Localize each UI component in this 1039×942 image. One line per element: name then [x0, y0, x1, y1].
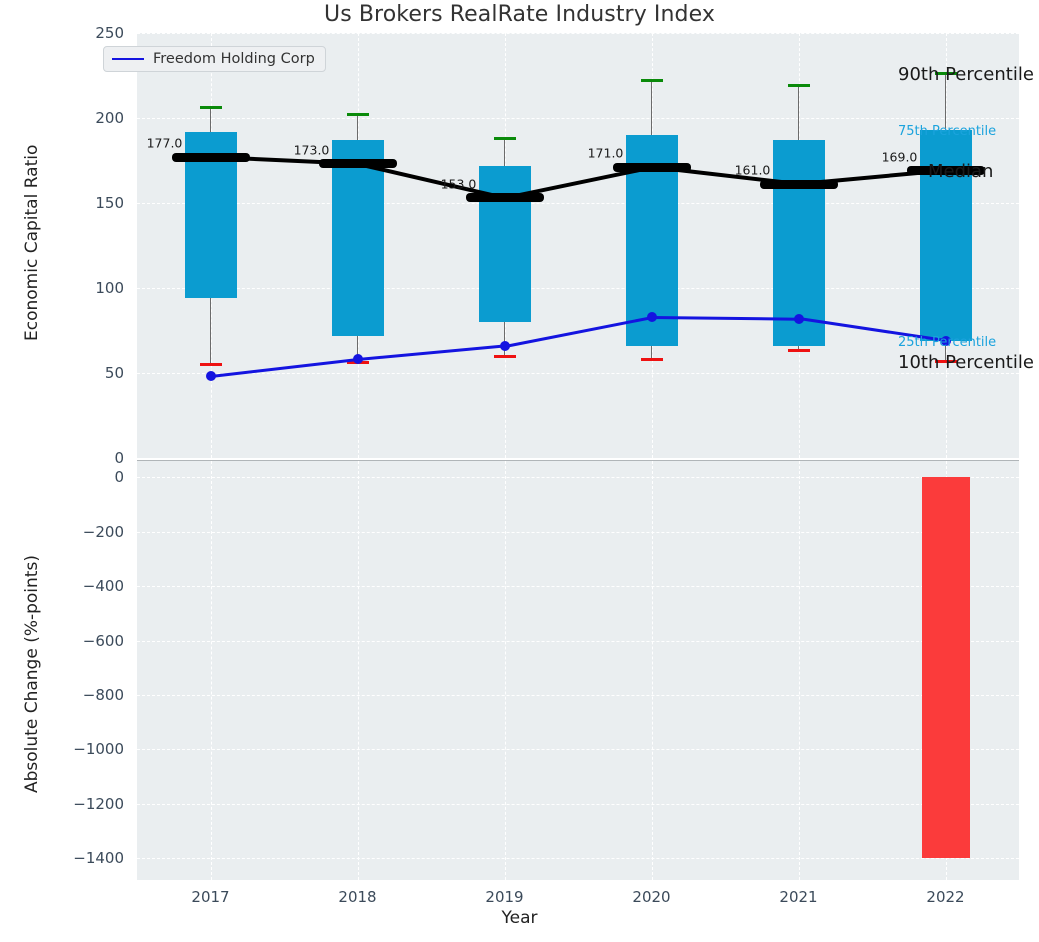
gridline-vertical	[505, 461, 506, 880]
annotation-90th-percentile: 90th Percentile	[898, 64, 1034, 85]
cap-10th-percentile-2017	[200, 363, 222, 366]
y-tick-label-bottom: 0	[0, 468, 124, 486]
gridline-vertical	[799, 461, 800, 880]
y-axis-label-top: Economic Capital Ratio	[22, 144, 42, 340]
annotation-75th-percentile: 75th Percentile	[898, 124, 996, 139]
chart-title: Us Brokers RealRate Industry Index	[0, 2, 1039, 27]
y-tick-label-bottom: −800	[0, 686, 124, 704]
gridline-vertical	[211, 461, 212, 880]
cap-10th-percentile-2021	[788, 349, 810, 352]
gridline-horizontal	[137, 804, 1019, 805]
median-marker-2021	[760, 180, 838, 189]
y-tick-label-bottom: −1000	[0, 740, 124, 758]
gridline-vertical	[358, 461, 359, 880]
gridline-horizontal	[137, 532, 1019, 533]
y-tick-label-bottom: −200	[0, 523, 124, 541]
cap-90th-percentile-2020	[641, 79, 663, 82]
median-value-label-2018: 173.0	[294, 142, 330, 157]
x-tick-label-2022: 2022	[886, 888, 1006, 906]
median-marker-2019	[466, 193, 544, 202]
cap-90th-percentile-2018	[347, 113, 369, 116]
legend-swatch-freedom-holding-corp	[112, 58, 144, 60]
x-tick-label-2020: 2020	[592, 888, 712, 906]
y-tick-label-bottom: −400	[0, 577, 124, 595]
y-tick-label-top: 0	[0, 449, 124, 467]
x-tick-label-2018: 2018	[298, 888, 418, 906]
cap-90th-percentile-2021	[788, 84, 810, 87]
y-tick-label-bottom: −1200	[0, 795, 124, 813]
x-tick-label-2021: 2021	[739, 888, 859, 906]
gridline-horizontal	[137, 373, 1019, 374]
median-value-label-2017: 177.0	[147, 136, 183, 151]
y-tick-label-bottom: −600	[0, 632, 124, 650]
gridline-horizontal	[137, 458, 1019, 459]
gridline-horizontal	[137, 203, 1019, 204]
gridline-horizontal	[137, 695, 1019, 696]
y-tick-label-bottom: −1400	[0, 849, 124, 867]
legend: Freedom Holding Corp	[103, 46, 326, 72]
median-marker-2017	[172, 153, 250, 162]
negative-bar-2022	[922, 477, 970, 858]
annotation-median: Median	[928, 161, 993, 182]
annotation-10th-percentile: 10th Percentile	[898, 352, 1034, 373]
gridline-horizontal	[137, 477, 1019, 478]
company-data-point-2020	[647, 312, 657, 322]
median-value-label-2022: 169.0	[882, 149, 918, 164]
gridline-horizontal	[137, 586, 1019, 587]
x-tick-label-2019: 2019	[445, 888, 565, 906]
median-value-label-2021: 161.0	[735, 163, 771, 178]
median-value-label-2020: 171.0	[588, 146, 624, 161]
gridline-horizontal	[137, 118, 1019, 119]
x-axis-label: Year	[0, 908, 1039, 928]
cap-10th-percentile-2020	[641, 358, 663, 361]
y-tick-label-top: 150	[0, 194, 124, 212]
gridline-vertical	[652, 461, 653, 880]
gridline-horizontal	[137, 749, 1019, 750]
company-data-point-2017	[206, 371, 216, 381]
company-data-point-2021	[794, 314, 804, 324]
gridline-horizontal	[137, 33, 1019, 34]
panel-absolute-change	[137, 461, 1019, 880]
y-tick-label-top: 200	[0, 109, 124, 127]
median-marker-2020	[613, 163, 691, 172]
legend-label-freedom-holding-corp: Freedom Holding Corp	[153, 51, 315, 67]
gridline-horizontal	[137, 858, 1019, 859]
annotation-25th-percentile: 25th Percentile	[898, 335, 996, 350]
y-tick-label-top: 50	[0, 364, 124, 382]
company-data-point-2019	[500, 341, 510, 351]
company-data-point-2018	[353, 354, 363, 364]
gridline-horizontal	[137, 641, 1019, 642]
y-tick-label-top: 100	[0, 279, 124, 297]
gridline-horizontal	[137, 288, 1019, 289]
panel-economic-capital-ratio	[137, 33, 1019, 458]
cap-90th-percentile-2019	[494, 137, 516, 140]
cap-90th-percentile-2017	[200, 106, 222, 109]
cap-10th-percentile-2019	[494, 355, 516, 358]
zero-baseline	[137, 460, 1019, 461]
y-tick-label-top: 250	[0, 24, 124, 42]
chart-figure: Us Brokers RealRate Industry Index Econo…	[0, 0, 1039, 942]
box-2019	[479, 166, 531, 322]
median-value-label-2019: 153.0	[441, 176, 477, 191]
x-tick-label-2017: 2017	[151, 888, 271, 906]
median-marker-2018	[319, 159, 397, 168]
